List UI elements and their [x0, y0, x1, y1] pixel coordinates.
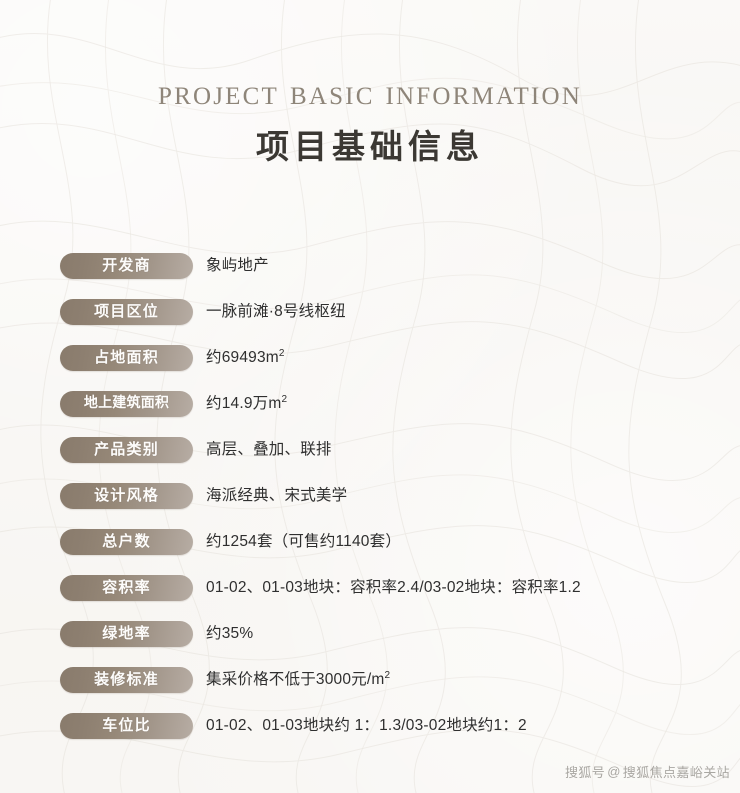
info-label-text: 设计风格: [94, 483, 159, 509]
info-label-text: 容积率: [102, 575, 151, 601]
info-row: 装修标准 集采价格不低于3000元/m2: [0, 657, 740, 703]
info-label-text: 总户数: [102, 529, 151, 555]
info-value-text: 海派经典、宋式美学: [206, 483, 347, 509]
page-root: Project Basic Information 项目基础信息 开发商 象屿地…: [0, 0, 740, 793]
info-label-text: 开发商: [102, 253, 151, 279]
info-label-text: 装修标准: [94, 667, 159, 693]
info-label-pill: 总户数: [60, 529, 193, 555]
sohu-watermark: 搜狐号 @ 搜狐焦点嘉峪关站: [565, 762, 730, 781]
info-label-pill: 装修标准: [60, 667, 193, 693]
info-value-superscript: 2: [281, 394, 287, 405]
info-value-text: 约35%: [206, 621, 253, 647]
info-value-superscript: 2: [279, 348, 285, 359]
info-value-text: 高层、叠加、联排: [206, 437, 332, 463]
info-label-pill: 绿地率: [60, 621, 193, 647]
header: Project Basic Information 项目基础信息: [0, 0, 740, 170]
page-title-chinese: 项目基础信息: [0, 126, 740, 170]
info-row: 地上建筑面积 约14.9万m2: [0, 381, 740, 427]
info-value-text: 约69493m: [206, 349, 279, 366]
info-label-pill: 项目区位: [60, 299, 193, 325]
watermark-prefix: 搜狐号: [565, 762, 605, 781]
watermark-suffix: 搜狐焦点嘉峪关站: [623, 762, 730, 781]
info-label-text: 占地面积: [94, 345, 159, 371]
info-value-text: 象屿地产: [206, 253, 269, 279]
info-label-text: 绿地率: [102, 621, 151, 647]
info-row: 产品类别 高层、叠加、联排: [0, 427, 740, 473]
info-value-text: 约1254套（可售约1140套）: [206, 529, 401, 555]
info-value-text: 约14.9万m: [206, 395, 281, 412]
info-value-text: 01-02、01-03地块约 1：1.3/03-02地块约1：2: [206, 713, 527, 739]
project-info-list: 开发商 象屿地产 项目区位 一脉前滩·8号线枢纽 占地面积 约69493m2 地…: [0, 243, 740, 749]
info-label-pill: 地上建筑面积: [60, 391, 193, 417]
info-row: 开发商 象屿地产: [0, 243, 740, 289]
info-label-text: 地上建筑面积: [84, 391, 169, 417]
info-label-pill: 车位比: [60, 713, 193, 739]
info-row: 占地面积 约69493m2: [0, 335, 740, 381]
page-title-english: Project Basic Information: [0, 72, 740, 114]
info-label-pill: 开发商: [60, 253, 193, 279]
info-value-text: 01-02、01-03地块：容积率2.4/03-02地块：容积率1.2: [206, 575, 581, 601]
info-row: 项目区位 一脉前滩·8号线枢纽: [0, 289, 740, 335]
info-label-pill: 设计风格: [60, 483, 193, 509]
info-value-text: 一脉前滩·8号线枢纽: [206, 299, 346, 325]
info-value: 约69493m2: [206, 345, 285, 371]
info-row: 绿地率 约35%: [0, 611, 740, 657]
info-row: 容积率 01-02、01-03地块：容积率2.4/03-02地块：容积率1.2: [0, 565, 740, 611]
info-value: 约14.9万m2: [206, 391, 287, 417]
info-label-pill: 占地面积: [60, 345, 193, 371]
info-label-text: 产品类别: [94, 437, 159, 463]
info-label-pill: 产品类别: [60, 437, 193, 463]
info-label-pill: 容积率: [60, 575, 193, 601]
info-row: 设计风格 海派经典、宋式美学: [0, 473, 740, 519]
info-value: 集采价格不低于3000元/m2: [206, 667, 390, 693]
info-label-text: 项目区位: [94, 299, 159, 325]
at-icon: @: [607, 764, 621, 779]
info-value-superscript: 2: [385, 670, 391, 681]
info-label-text: 车位比: [102, 713, 151, 739]
info-row: 车位比 01-02、01-03地块约 1：1.3/03-02地块约1：2: [0, 703, 740, 749]
info-row: 总户数 约1254套（可售约1140套）: [0, 519, 740, 565]
info-value-text: 集采价格不低于3000元/m: [206, 671, 385, 688]
